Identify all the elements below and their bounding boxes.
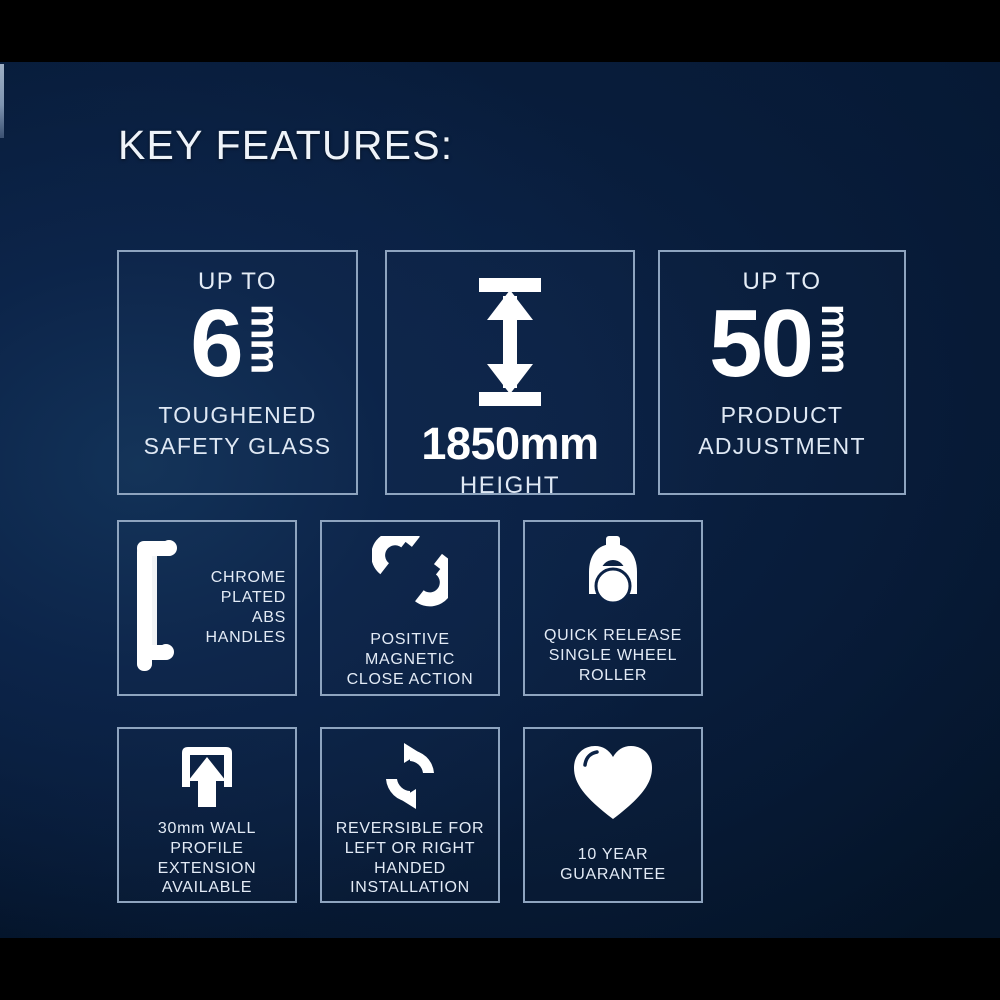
reversible-caption-line1: REVERSIBLE FOR <box>336 819 485 839</box>
height-value: 1850mm <box>421 418 598 470</box>
wall-profile-caption-line3: EXTENSION <box>158 859 257 879</box>
handles-caption-line4: HANDLES <box>181 628 286 648</box>
glass-value: 6 <box>190 298 241 390</box>
feature-tile-product-adjustment[interactable]: UP TO 50 mm PRODUCT ADJUSTMENT <box>658 250 906 495</box>
glass-caption: TOUGHENED SAFETY GLASS <box>144 400 332 461</box>
adjustment-caption-line2: ADJUSTMENT <box>698 431 866 461</box>
guarantee-caption-line1: 10 YEAR <box>560 845 666 865</box>
wheel-roller-icon <box>577 536 649 612</box>
feature-tile-guarantee[interactable]: 10 YEAR GUARANTEE <box>523 727 703 903</box>
horseshoe-magnet-icon <box>372 536 448 608</box>
vertical-double-arrow-icon <box>473 278 547 406</box>
glass-caption-line2: SAFETY GLASS <box>144 431 332 461</box>
feature-tile-toughened-safety-glass[interactable]: UP TO 6 mm TOUGHENED SAFETY GLASS <box>117 250 358 495</box>
magnetic-caption: POSITIVE MAGNETIC CLOSE ACTION <box>347 630 474 689</box>
roller-caption: QUICK RELEASE SINGLE WHEEL ROLLER <box>544 626 682 685</box>
guarantee-caption: 10 YEAR GUARANTEE <box>560 845 666 885</box>
wall-profile-caption: 30mm WALL PROFILE EXTENSION AVAILABLE <box>158 819 257 898</box>
handles-caption-line1: CHROME <box>181 568 286 588</box>
adjustment-caption: PRODUCT ADJUSTMENT <box>698 400 866 461</box>
left-edge-highlight <box>0 64 4 138</box>
glass-caption-line1: TOUGHENED <box>144 400 332 430</box>
handles-caption-line2: PLATED <box>181 588 286 608</box>
adjustment-unit: mm <box>815 304 855 373</box>
magnetic-caption-line3: CLOSE ACTION <box>347 670 474 690</box>
handles-caption-line3: ABS <box>181 608 286 628</box>
letterbox-top <box>0 0 1000 62</box>
height-label: HEIGHT <box>460 472 560 500</box>
magnetic-caption-line1: POSITIVE <box>347 630 474 650</box>
reversible-caption-line4: INSTALLATION <box>336 878 485 898</box>
feature-tile-chrome-plated-abs-handles[interactable]: CHROME PLATED ABS HANDLES <box>117 520 297 696</box>
wall-profile-caption-line2: PROFILE <box>158 839 257 859</box>
roller-caption-line1: QUICK RELEASE <box>544 626 682 646</box>
reversible-caption: REVERSIBLE FOR LEFT OR RIGHT HANDED INST… <box>336 819 485 898</box>
circular-arrows-icon <box>378 743 442 809</box>
glass-value-group: 6 mm <box>190 298 284 390</box>
roller-caption-line3: ROLLER <box>544 666 682 686</box>
roller-caption-line2: SINGLE WHEEL <box>544 646 682 666</box>
adjustment-caption-line1: PRODUCT <box>698 400 866 430</box>
feature-tile-height[interactable]: 1850mm HEIGHT <box>385 250 635 495</box>
magnetic-caption-line2: MAGNETIC <box>347 650 474 670</box>
wall-profile-caption-line4: AVAILABLE <box>158 878 257 898</box>
glass-unit: mm <box>245 304 285 373</box>
feature-tile-quick-release-single-wheel-roller[interactable]: QUICK RELEASE SINGLE WHEEL ROLLER <box>523 520 703 696</box>
letterbox-bottom <box>0 938 1000 1000</box>
adjustment-value-group: 50 mm <box>709 298 855 390</box>
door-handle-icon <box>131 537 179 679</box>
slide-canvas: KEY FEATURES: UP TO 6 mm TOUGHENED SAFET… <box>0 62 1000 938</box>
adjustment-value: 50 <box>709 298 812 390</box>
feature-tile-positive-magnetic-close-action[interactable]: POSITIVE MAGNETIC CLOSE ACTION <box>320 520 500 696</box>
feature-tile-wall-profile-extension[interactable]: 30mm WALL PROFILE EXTENSION AVAILABLE <box>117 727 297 903</box>
wall-profile-caption-line1: 30mm WALL <box>158 819 257 839</box>
reversible-caption-line2: LEFT OR RIGHT <box>336 839 485 859</box>
feature-tile-reversible-installation[interactable]: REVERSIBLE FOR LEFT OR RIGHT HANDED INST… <box>320 727 500 903</box>
page-title: KEY FEATURES: <box>118 122 453 169</box>
heart-icon <box>570 743 656 823</box>
slide-screen: KEY FEATURES: UP TO 6 mm TOUGHENED SAFET… <box>0 0 1000 1000</box>
reversible-caption-line3: HANDED <box>336 859 485 879</box>
up-arrow-in-channel-icon <box>174 743 240 809</box>
guarantee-caption-line2: GUARANTEE <box>560 865 666 885</box>
handles-caption: CHROME PLATED ABS HANDLES <box>179 568 295 647</box>
